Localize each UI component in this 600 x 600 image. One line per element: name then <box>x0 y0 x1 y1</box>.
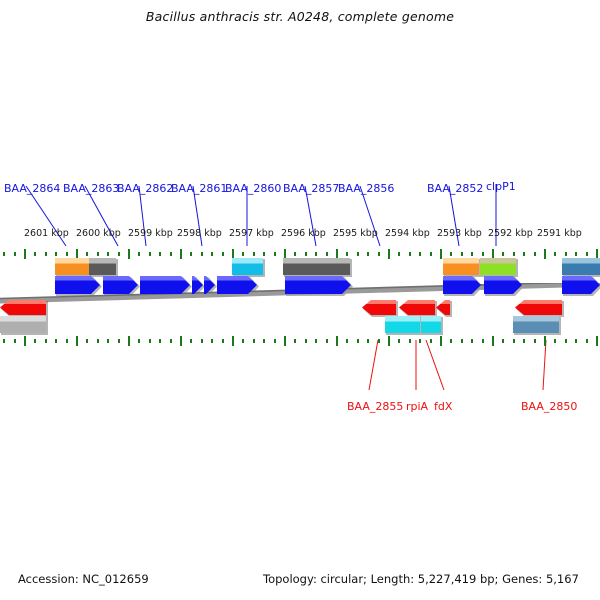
scale-tick <box>378 252 380 256</box>
scale-tick <box>565 339 567 343</box>
cds-arrow-forward[interactable] <box>140 276 190 294</box>
scale-tick <box>128 336 130 346</box>
gene-label-baa_2856[interactable]: BAA_2856 <box>338 182 394 195</box>
scale-tick <box>97 339 99 343</box>
scale-tick <box>346 339 348 343</box>
scale-tick <box>149 339 151 343</box>
scale-tick <box>367 339 369 343</box>
gene-label-baa_2864[interactable]: BAA_2864 <box>4 182 60 195</box>
gene-label-baa_2863[interactable]: BAA_2863 <box>63 182 119 195</box>
cds-arrow-reverse[interactable] <box>436 300 450 315</box>
scale-tick <box>294 252 296 256</box>
scale-tick <box>586 339 588 343</box>
scale-tick <box>554 339 556 343</box>
scale-tick <box>253 252 255 256</box>
scale-tick <box>138 339 140 343</box>
scale-tick <box>107 339 109 343</box>
scale-dash-row-bottom <box>0 336 600 346</box>
scale-tick <box>419 252 421 256</box>
scale-tick <box>388 336 390 346</box>
ruler-tick-label: 2594 kbp <box>385 228 430 239</box>
gene-label-fdx[interactable]: fdX <box>434 400 452 413</box>
scale-tick <box>294 339 296 343</box>
scale-tick <box>274 339 276 343</box>
scale-tick <box>24 249 26 259</box>
scale-tick <box>315 252 317 256</box>
scale-tick <box>586 252 588 256</box>
scale-tick <box>55 339 57 343</box>
ruler-tick-label: 2596 kbp <box>281 228 326 239</box>
scale-tick <box>180 336 182 346</box>
scale-tick <box>565 252 567 256</box>
scale-tick <box>107 252 109 256</box>
ruler-tick-label: 2597 kbp <box>229 228 274 239</box>
scale-tick <box>159 339 161 343</box>
scale-tick <box>575 252 577 256</box>
gene-label-baa_2855[interactable]: BAA_2855 <box>347 400 403 413</box>
cds-arrow-reverse[interactable] <box>362 300 396 315</box>
scale-tick <box>461 339 463 343</box>
scale-tick <box>315 339 317 343</box>
gene-feature-box[interactable] <box>55 258 89 275</box>
gene-feature-box[interactable] <box>443 258 479 275</box>
scale-tick <box>336 336 338 346</box>
ruler-tick-label: 2601 kbp <box>24 228 69 239</box>
genome-summary-text: Topology: circular; Length: 5,227,419 bp… <box>263 572 579 586</box>
scale-tick <box>398 339 400 343</box>
gene-label-rpia[interactable]: rpiA <box>406 400 428 413</box>
scale-tick <box>357 339 359 343</box>
gene-label-baa_2852[interactable]: BAA_2852 <box>427 182 483 195</box>
scale-tick <box>326 252 328 256</box>
scale-tick <box>274 252 276 256</box>
scale-tick <box>201 339 203 343</box>
scale-tick <box>388 249 390 259</box>
scale-tick <box>242 339 244 343</box>
cds-arrow-reverse[interactable] <box>515 300 562 315</box>
gene-feature-box[interactable] <box>283 258 350 275</box>
scale-tick <box>170 252 172 256</box>
scale-tick <box>513 252 515 256</box>
scale-tick <box>575 339 577 343</box>
scale-tick <box>201 252 203 256</box>
scale-tick <box>149 252 151 256</box>
scale-tick <box>263 252 265 256</box>
scale-tick <box>284 336 286 346</box>
scale-tick <box>502 339 504 343</box>
ruler-tick-label: 2599 kbp <box>128 228 173 239</box>
scale-tick <box>190 252 192 256</box>
scale-tick <box>461 252 463 256</box>
gene-feature-box[interactable] <box>480 258 516 275</box>
scale-tick <box>14 339 16 343</box>
scale-tick <box>66 252 68 256</box>
scale-tick <box>55 252 57 256</box>
gene-label-baa_2857[interactable]: BAA_2857 <box>283 182 339 195</box>
scale-tick <box>357 252 359 256</box>
gene-feature-box[interactable] <box>89 258 116 275</box>
scale-tick <box>513 339 515 343</box>
ruler-tick-label: 2591 kbp <box>537 228 582 239</box>
scale-tick <box>118 252 120 256</box>
scale-tick <box>3 339 5 343</box>
ruler-tick-label: 2600 kbp <box>76 228 121 239</box>
scale-tick <box>326 339 328 343</box>
gene-feature-box[interactable] <box>232 258 263 275</box>
scale-tick <box>534 252 536 256</box>
cds-arrow-reverse[interactable] <box>399 300 435 315</box>
scale-tick <box>450 339 452 343</box>
scale-tick <box>596 336 598 346</box>
scale-tick <box>45 339 47 343</box>
gene-feature-box[interactable] <box>421 316 441 333</box>
scale-tick <box>86 339 88 343</box>
scale-tick <box>253 339 255 343</box>
scale-tick <box>222 339 224 343</box>
scale-tick <box>34 339 36 343</box>
scale-tick <box>97 252 99 256</box>
ruler-tick-label: 2593 kbp <box>437 228 482 239</box>
scale-tick <box>544 249 546 259</box>
gene-label-baa_2862[interactable]: BAA_2862 <box>117 182 173 195</box>
gene-label-baa_2860[interactable]: BAA_2860 <box>225 182 281 195</box>
scale-tick <box>450 252 452 256</box>
scale-tick <box>14 252 16 256</box>
scale-tick <box>440 336 442 346</box>
scale-tick <box>159 252 161 256</box>
genome-browser-canvas: Bacillus anthracis str. A0248, complete … <box>0 0 600 600</box>
scale-tick <box>502 252 504 256</box>
scale-tick <box>170 339 172 343</box>
scale-tick <box>222 252 224 256</box>
scale-tick <box>430 339 432 343</box>
scale-tick <box>242 252 244 256</box>
scale-tick <box>430 252 432 256</box>
ruler-tick-label: 2595 kbp <box>333 228 378 239</box>
scale-tick <box>263 339 265 343</box>
scale-tick <box>305 339 307 343</box>
scale-tick <box>86 252 88 256</box>
scale-tick <box>523 252 525 256</box>
scale-tick <box>128 249 130 259</box>
scale-tick <box>138 252 140 256</box>
gene-feature-box[interactable] <box>0 316 46 333</box>
scale-tick <box>24 336 26 346</box>
gene-label-clpp1[interactable]: clpP1 <box>486 180 516 193</box>
scale-tick <box>440 249 442 259</box>
scale-tick <box>211 252 213 256</box>
scale-tick <box>523 339 525 343</box>
scale-tick <box>45 252 47 256</box>
cds-arrow-forward[interactable] <box>55 276 100 294</box>
scale-tick <box>118 339 120 343</box>
cds-arrow-forward[interactable] <box>285 276 351 294</box>
scale-tick <box>34 252 36 256</box>
scale-tick <box>398 252 400 256</box>
gene-feature-box[interactable] <box>385 316 420 333</box>
scale-tick <box>471 339 473 343</box>
scale-tick <box>492 336 494 346</box>
gene-feature-box[interactable] <box>513 316 559 333</box>
gene-label-baa_2861[interactable]: BAA_2861 <box>171 182 227 195</box>
scale-tick <box>482 252 484 256</box>
scale-tick <box>305 252 307 256</box>
scale-tick <box>544 336 546 346</box>
scale-tick <box>346 252 348 256</box>
scale-tick <box>378 339 380 343</box>
scale-tick <box>190 339 192 343</box>
ruler-tick-label: 2592 kbp <box>488 228 533 239</box>
scale-tick <box>409 339 411 343</box>
scale-tick <box>534 339 536 343</box>
scale-tick <box>554 252 556 256</box>
scale-tick <box>482 339 484 343</box>
gene-feature-box[interactable] <box>562 258 600 275</box>
scale-tick <box>419 339 421 343</box>
page-title: Bacillus anthracis str. A0248, complete … <box>0 9 600 24</box>
gene-label-baa_2850[interactable]: BAA_2850 <box>521 400 577 413</box>
scale-tick <box>409 252 411 256</box>
accession-text: Accession: NC_012659 <box>18 572 149 586</box>
scale-tick <box>3 252 5 256</box>
scale-tick <box>180 249 182 259</box>
scale-tick <box>232 336 234 346</box>
scale-tick <box>211 339 213 343</box>
scale-tick <box>367 252 369 256</box>
scale-tick <box>76 336 78 346</box>
scale-tick <box>66 339 68 343</box>
cds-arrow-reverse[interactable] <box>0 300 46 315</box>
ruler-tick-label: 2598 kbp <box>177 228 222 239</box>
scale-tick <box>471 252 473 256</box>
